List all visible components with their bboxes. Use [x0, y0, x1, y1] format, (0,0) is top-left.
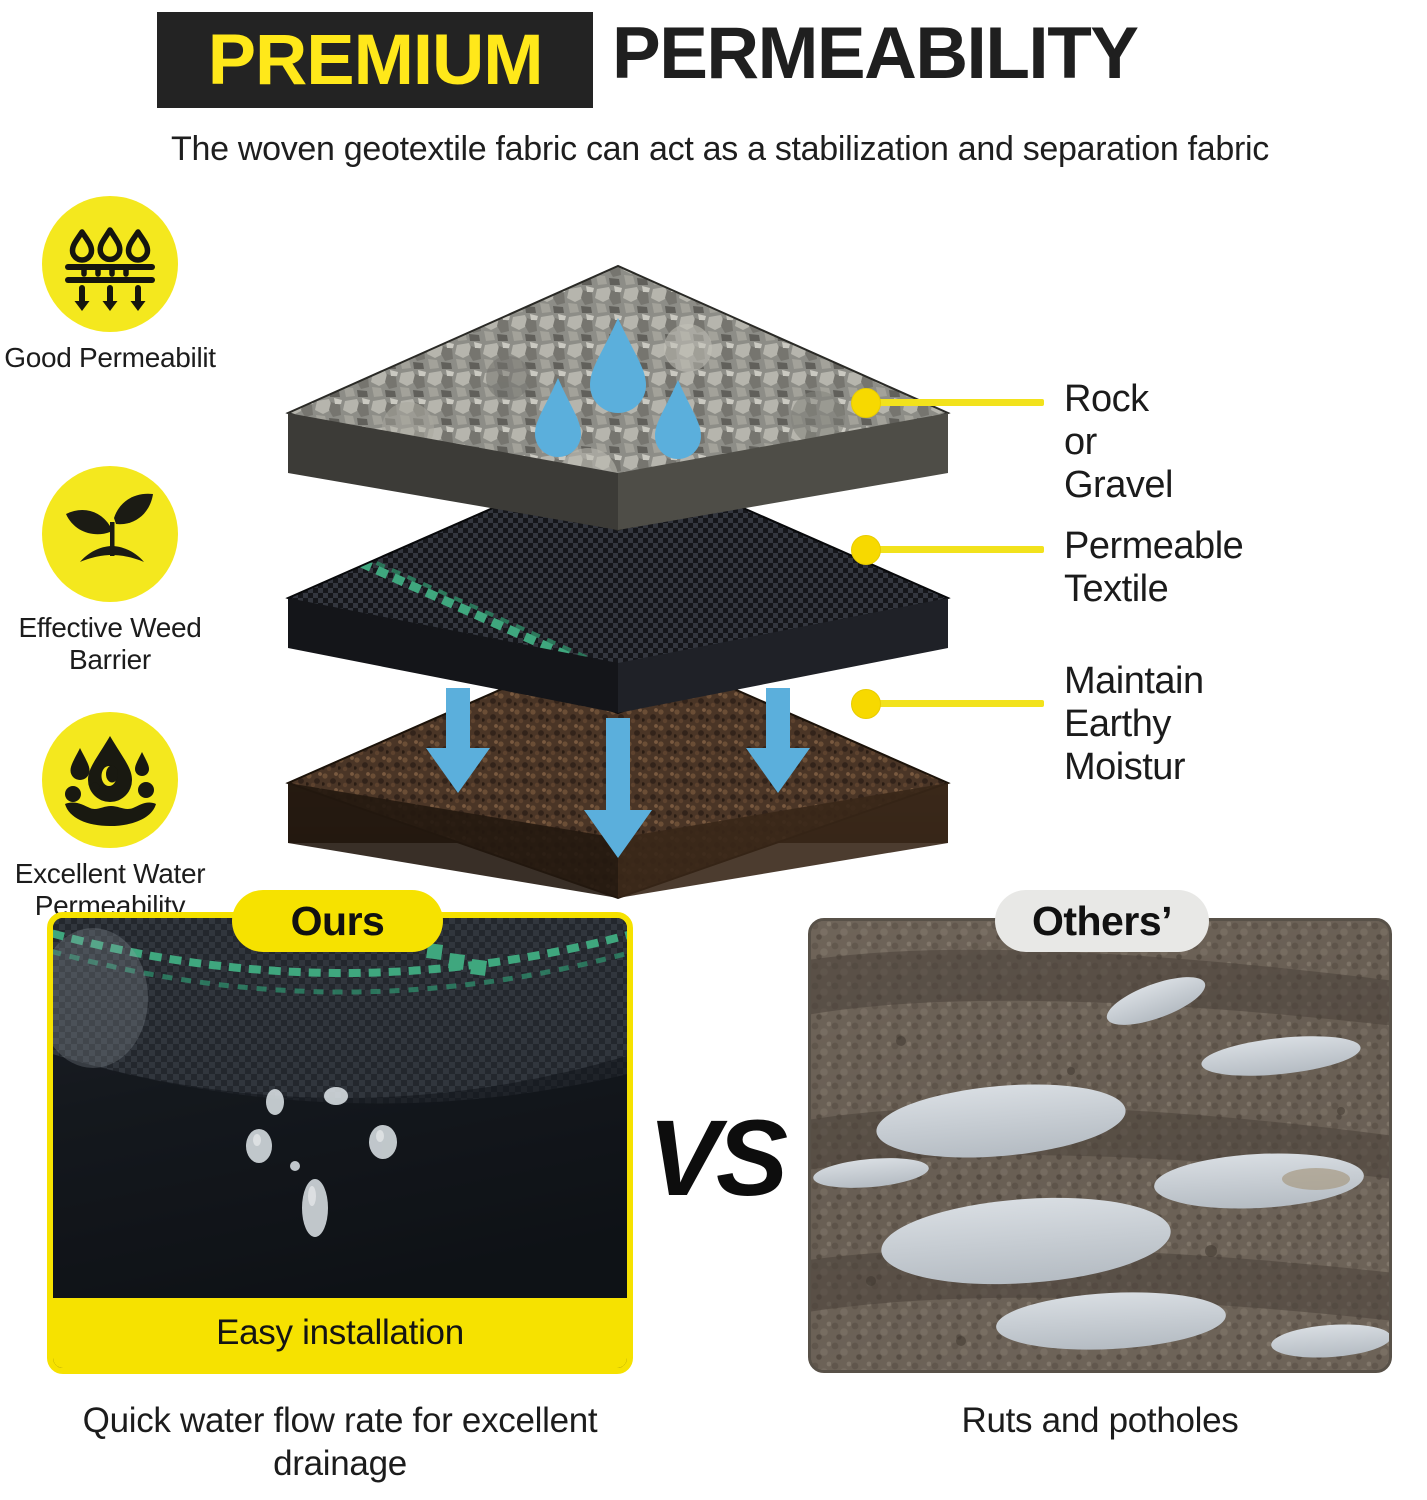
- feature-item-weed-barrier: Effective Weed Barrier: [0, 466, 225, 676]
- feature-item-water-permeability: Excellent Water Permeability: [0, 712, 225, 922]
- callout-label: Permeable Textile: [1064, 525, 1243, 611]
- callout-label: Maintain Earthy Moistur: [1064, 660, 1204, 789]
- ours-bottom-caption: Quick water flow rate for excellent drai…: [30, 1400, 650, 1485]
- comparison-panel-others[interactable]: [808, 918, 1392, 1373]
- subtitle-text: The woven geotextile fabric can act as a…: [170, 128, 1270, 172]
- feature-label: Good Permeabilit: [0, 342, 225, 374]
- feature-icon-badge: [42, 196, 178, 332]
- layer-diagram: [258, 258, 978, 888]
- premium-badge: PREMIUM: [157, 12, 593, 108]
- others-photo: [811, 921, 1392, 1373]
- callout-leader-line: [868, 700, 1044, 707]
- ours-badge: Ours: [232, 890, 443, 952]
- ours-caption: Easy installation: [53, 1298, 627, 1368]
- premium-label: PREMIUM: [208, 25, 543, 96]
- ours-photo: [53, 918, 627, 1298]
- plant-sprout-icon: [60, 484, 160, 585]
- others-bottom-caption: Ruts and potholes: [800, 1400, 1400, 1443]
- feature-label: Effective Weed Barrier: [0, 612, 225, 676]
- callout-leader-line: [868, 399, 1044, 406]
- others-badge-label: Others’: [1032, 898, 1172, 945]
- comparison-panel-ours[interactable]: Easy installation: [47, 912, 633, 1374]
- callout-dot: [851, 689, 881, 719]
- vs-label: VS: [648, 1104, 784, 1212]
- callout-label: Rock or Gravel: [1064, 378, 1173, 507]
- callout-dot: [851, 388, 881, 418]
- header-bar: PREMIUM PERMEABILITY: [0, 6, 1427, 116]
- water-permeability-icon: [58, 210, 162, 319]
- others-badge: Others’: [995, 890, 1209, 952]
- ours-caption-label: Easy installation: [216, 1313, 464, 1353]
- feature-icon-badge: [42, 712, 178, 848]
- page-title: PERMEABILITY: [612, 17, 1137, 90]
- feature-icon-badge: [42, 466, 178, 602]
- callout-leader-line: [868, 546, 1044, 553]
- water-droplet-icon: [59, 730, 161, 831]
- feature-item-permeability: Good Permeabilit: [0, 196, 225, 374]
- ours-badge-label: Ours: [291, 898, 385, 945]
- callout-dot: [851, 535, 881, 565]
